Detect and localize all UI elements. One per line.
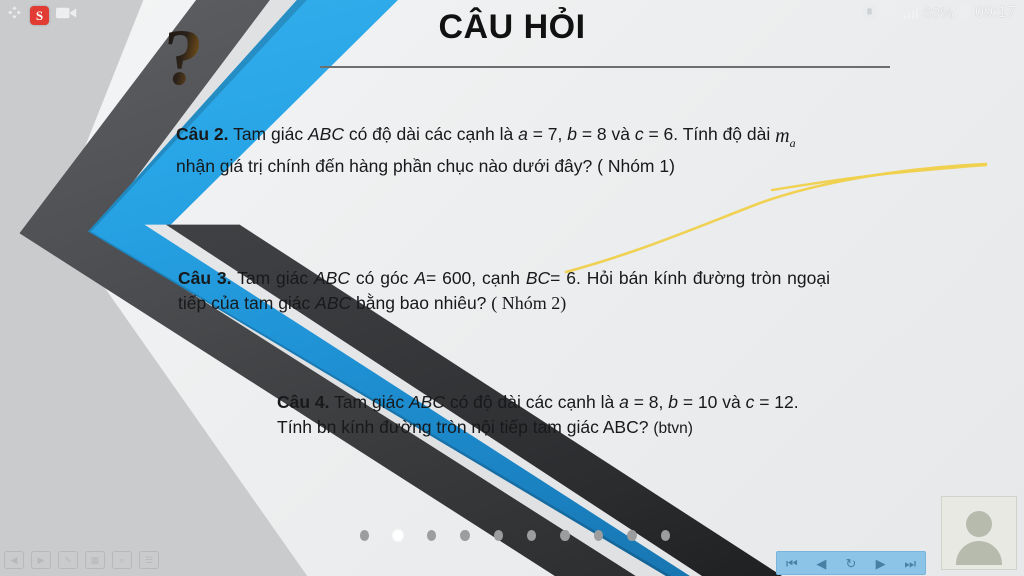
question-mark-3d-icon: ?	[161, 16, 241, 100]
question-2-val-a: = 7,	[528, 124, 567, 144]
loop-button[interactable]: ↻	[839, 554, 863, 572]
question-block-4: Câu 4. Tam giác ABC có độ dài các cạnh l…	[277, 390, 867, 441]
pagination-dots[interactable]	[360, 528, 670, 542]
question-2-var-b: b	[567, 124, 577, 144]
avatar-body-icon	[956, 541, 1002, 565]
pen-icon[interactable]: ✎	[58, 551, 78, 569]
question-3-var-bc: BC	[526, 268, 550, 288]
pagination-dot[interactable]	[661, 530, 670, 541]
question-block-3: Câu 3. Tam giác ABC có góc A= 600, cạnh …	[178, 266, 830, 316]
pagination-dot[interactable]	[560, 530, 569, 541]
first-slide-button[interactable]: ⏮	[780, 554, 804, 572]
question-3-text-3: bằng bao nhiêu?	[351, 293, 491, 313]
ghost-toolbar[interactable]: ◀ ▶ ✎ ▦ ⌕ ☰	[4, 550, 159, 570]
question-3-var-a: A	[414, 268, 426, 288]
symbol-m: m	[775, 125, 789, 147]
screen: S	[0, 0, 1024, 576]
play-icon[interactable]: ▶	[31, 551, 51, 569]
question-4-var-b: b	[668, 392, 678, 412]
question-4-note: (btvn)	[653, 420, 693, 437]
page-title: CÂU HỎI	[0, 8, 1024, 47]
pagination-dot[interactable]	[594, 530, 603, 541]
play-button[interactable]: ▶	[869, 554, 893, 572]
search-icon[interactable]: ⌕	[112, 551, 132, 569]
question-4-line-2: Tính bn kính đường tròn nội tiếp tam giá…	[277, 417, 653, 437]
question-2-text-1: Tam giác	[229, 124, 308, 144]
question-2-var-c: c	[635, 124, 644, 144]
pagination-dot[interactable]	[460, 530, 469, 541]
title-underline	[320, 66, 890, 68]
grid-icon[interactable]: ▦	[85, 551, 105, 569]
pagination-dot[interactable]	[360, 530, 369, 541]
question-3-abc-1: ABC	[314, 268, 350, 288]
question-4-abc: ABC	[409, 392, 445, 412]
presenter-avatar-placeholder[interactable]	[941, 496, 1017, 570]
question-4-label: Câu 4.	[277, 392, 330, 412]
question-block-2: Câu 2. Tam giác ABC có độ dài các cạnh l…	[176, 122, 876, 179]
pagination-dot[interactable]	[627, 530, 636, 541]
question-2-line-2: nhận giá trị chính đến hàng phần chục nà…	[176, 156, 675, 176]
question-3-abc-2: ABC	[315, 293, 351, 313]
question-4-val-b: = 10 và	[678, 392, 746, 412]
question-3-group-label: ( Nhóm 2)	[491, 293, 566, 313]
question-2-val-c: = 6. Tính độ dài	[644, 124, 776, 144]
question-2-var-a: a	[518, 124, 528, 144]
question-4-var-a: a	[619, 392, 629, 412]
previous-slide-button[interactable]: ◀	[809, 554, 833, 572]
question-3-val-a: = 600, cạnh	[426, 268, 526, 288]
question-3-text-2: có góc	[350, 268, 414, 288]
pagination-dot-active[interactable]	[393, 530, 402, 541]
pagination-dot[interactable]	[494, 530, 503, 541]
avatar-head-icon	[966, 511, 992, 537]
question-4-text-1: Tam giác	[330, 392, 409, 412]
prev-icon[interactable]: ◀	[4, 551, 24, 569]
question-2-text-2: có độ dài các cạnh là	[344, 124, 518, 144]
question-4-val-c: = 12.	[754, 392, 798, 412]
question-4-val-a: = 8,	[629, 392, 668, 412]
question-2-label: Câu 2.	[176, 124, 229, 144]
question-3-text-1: Tam giác	[232, 268, 314, 288]
menu-icon[interactable]: ☰	[139, 551, 159, 569]
pagination-dot[interactable]	[527, 530, 536, 541]
question-2-val-b: = 8 và	[577, 124, 635, 144]
slide-player-controls[interactable]: ⏮ ◀ ↻ ▶ ⏭	[776, 551, 926, 575]
question-3-label: Câu 3.	[178, 268, 232, 288]
question-2-symbol-ma: ma	[775, 125, 795, 147]
symbol-subscript-a: a	[790, 136, 796, 150]
question-2-abc: ABC	[308, 124, 344, 144]
last-slide-button[interactable]: ⏭	[898, 554, 922, 572]
pagination-dot[interactable]	[427, 530, 436, 541]
question-4-text-2: có độ dài các cạnh là	[445, 392, 619, 412]
